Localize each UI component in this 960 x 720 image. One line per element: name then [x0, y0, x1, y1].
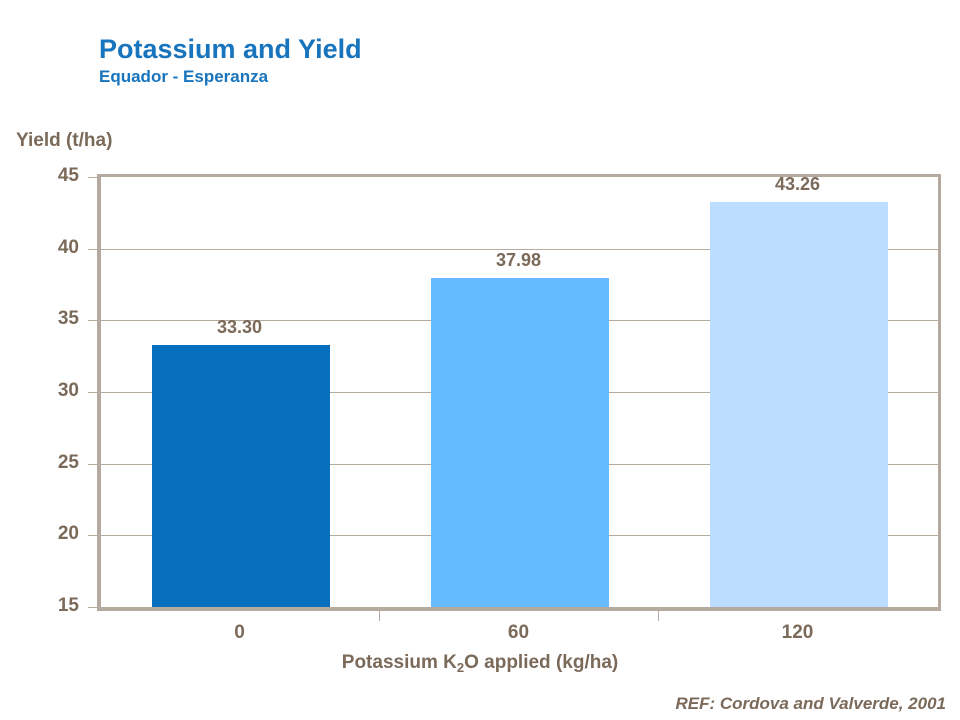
- title-block: Potassium and Yield Equador - Esperanza: [99, 34, 362, 88]
- y-axis-tick-label: 15: [9, 595, 79, 617]
- y-axis-tick: [88, 464, 97, 465]
- bar-value-label: 33.30: [160, 317, 320, 338]
- y-axis-tick: [88, 249, 97, 250]
- x-axis-tick-label: 60: [449, 622, 589, 644]
- reference-note: REF: Cordova and Valverde, 2001: [675, 694, 946, 714]
- x-axis-title-post: O applied (kg/ha): [464, 652, 618, 673]
- y-axis-tick-label: 45: [9, 165, 79, 187]
- y-axis-tick-label: 40: [9, 237, 79, 259]
- x-axis-tick: [379, 611, 380, 621]
- x-axis-title: Potassium K2O applied (kg/ha): [0, 652, 960, 674]
- page-title: Potassium and Yield: [99, 34, 362, 64]
- bar-value-label: 43.26: [718, 174, 878, 195]
- y-axis-tick-label: 35: [9, 308, 79, 330]
- bar[interactable]: [431, 278, 609, 607]
- y-axis-tick: [88, 177, 97, 178]
- y-axis-tick: [88, 320, 97, 321]
- plot-area: [97, 174, 941, 611]
- bar[interactable]: [710, 202, 888, 607]
- x-axis-tick: [658, 611, 659, 621]
- y-axis-tick: [88, 535, 97, 536]
- y-axis-title: Yield (t/ha): [16, 130, 112, 152]
- y-axis-tick: [88, 607, 97, 608]
- y-axis-tick-label: 30: [9, 380, 79, 402]
- x-axis-tick-label: 0: [170, 622, 310, 644]
- y-axis-tick-label: 25: [9, 452, 79, 474]
- chart-page: Potassium and Yield Equador - Esperanza …: [0, 0, 960, 720]
- bar[interactable]: [152, 345, 330, 607]
- x-axis-title-subscript: 2: [457, 660, 464, 675]
- y-axis-tick-label: 20: [9, 523, 79, 545]
- y-axis-tick: [88, 392, 97, 393]
- x-axis-tick-label: 120: [728, 622, 868, 644]
- page-subtitle: Equador - Esperanza: [99, 66, 362, 88]
- bar-value-label: 37.98: [439, 250, 599, 271]
- x-axis-title-pre: Potassium K: [342, 652, 457, 673]
